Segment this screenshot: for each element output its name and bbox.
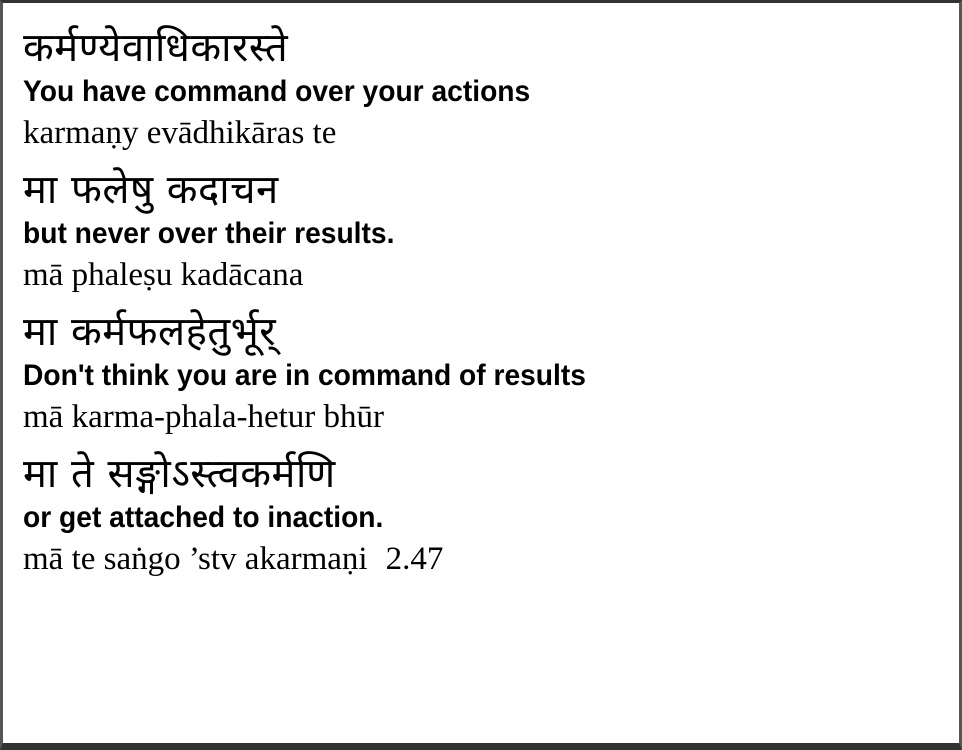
english-meaning-line: Don't think you are in command of result…	[23, 357, 903, 395]
transliteration-line: mā te saṅgo ’stv akarmaṇi2.47	[23, 539, 959, 580]
transliteration-text: mā phaleṣu kadācana	[23, 257, 303, 293]
verse-block: मा फलेषु कदाचन but never over their resu…	[23, 167, 959, 296]
document-page: कर्मण्येवाधिकारस्ते You have command ove…	[0, 0, 962, 750]
devanagari-line: मा फलेषु कदाचन	[23, 167, 959, 214]
transliteration-text: mā karma-phala-hetur bhūr	[23, 399, 384, 435]
transliteration-line: mā karma-phala-hetur bhūr	[23, 397, 959, 438]
devanagari-line: मा कर्मफलहेतुर्भूर्	[23, 309, 959, 356]
english-meaning-line: or get attached to inaction.	[23, 499, 903, 537]
transliteration-text: mā te saṅgo ’stv akarmaṇi	[23, 541, 368, 577]
english-meaning-line: You have command over your actions	[23, 73, 903, 111]
devanagari-line: मा ते सङ्गोऽस्त्वकर्मणि	[23, 451, 959, 498]
verse-number: 2.47	[386, 541, 444, 577]
transliteration-line: karmaṇy evādhikāras te	[23, 113, 959, 154]
document-sheet: कर्मण्येवाधिकारस्ते You have command ove…	[3, 3, 959, 743]
verse-block: मा कर्मफलहेतुर्भूर् Don't think you are …	[23, 309, 959, 438]
verse-block: मा ते सङ्गोऽस्त्वकर्मणि or get attached …	[23, 451, 959, 580]
transliteration-line: mā phaleṣu kadācana	[23, 255, 959, 296]
english-meaning-line: but never over their results.	[23, 215, 903, 253]
transliteration-text: karmaṇy evādhikāras te	[23, 115, 336, 151]
devanagari-line: कर्मण्येवाधिकारस्ते	[23, 25, 959, 72]
verse-block: कर्मण्येवाधिकारस्ते You have command ove…	[23, 25, 959, 154]
